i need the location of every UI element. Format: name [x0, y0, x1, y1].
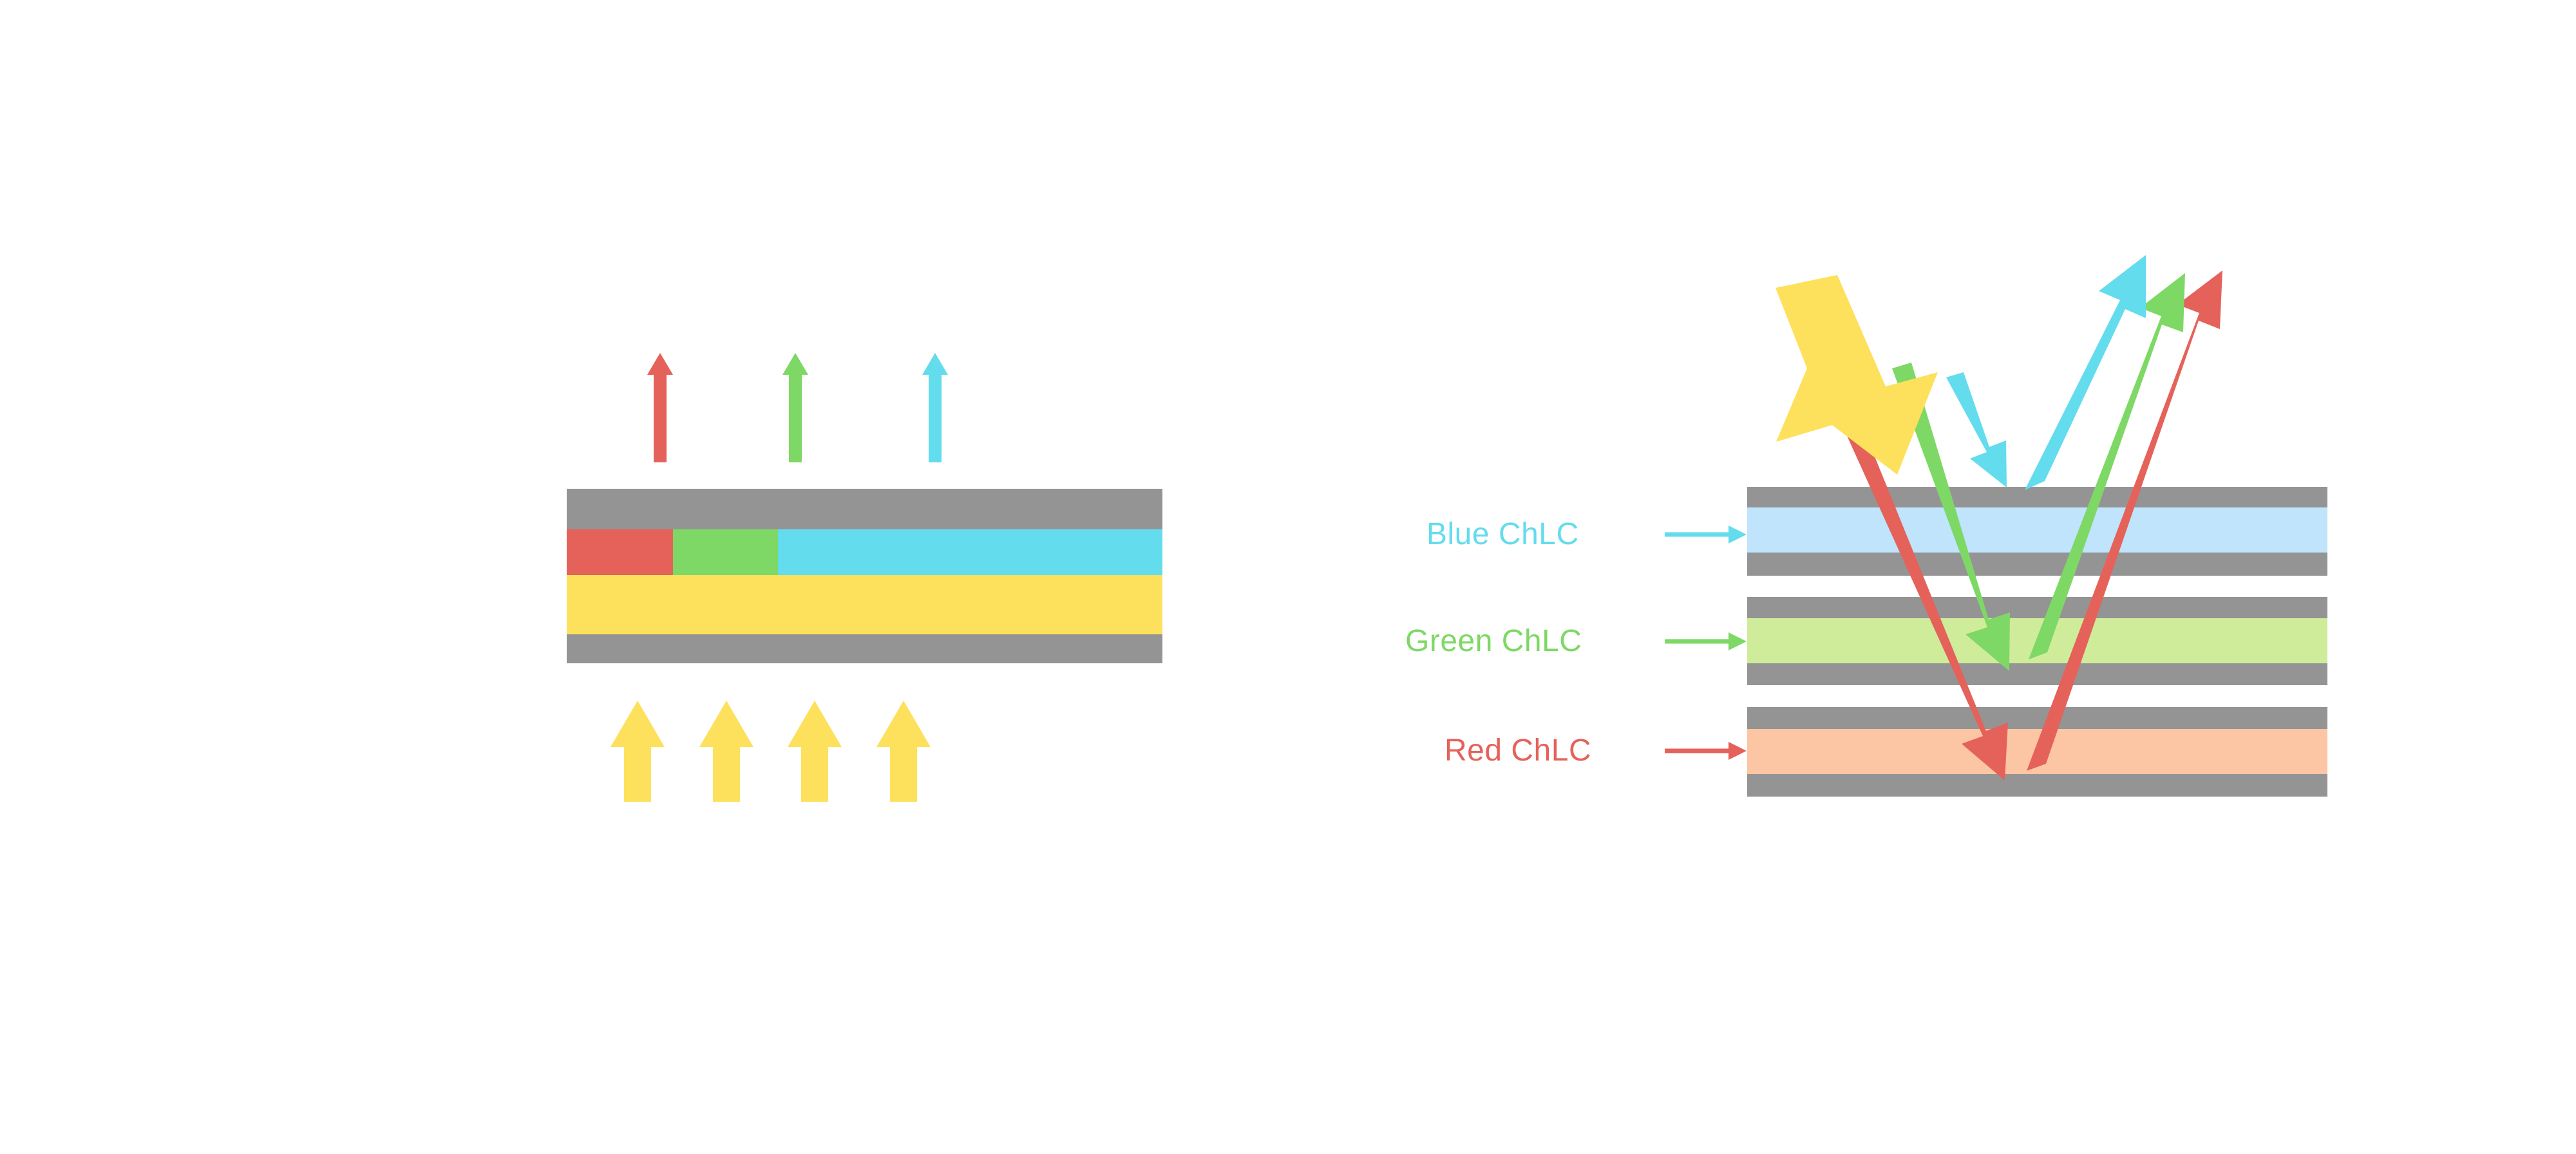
- label-pointer-arrows: [1665, 525, 1747, 760]
- blue-chlc-cell: [1747, 487, 2327, 576]
- green-cell-bottom-electrode: [1747, 663, 2327, 685]
- left-emissive-panel: [567, 353, 1162, 802]
- top-electrode: [567, 489, 1162, 529]
- backlight-arrow-4: [876, 701, 931, 802]
- blue-cell-top-electrode: [1747, 487, 2327, 507]
- backlight-arrow-1: [611, 701, 665, 802]
- blue-chlc-label: Blue ChLC: [1426, 519, 1579, 550]
- green-label-pointer-arrow: [1665, 632, 1747, 650]
- backlight-arrow-3: [788, 701, 842, 802]
- green-cell-top-electrode: [1747, 597, 2327, 618]
- incident-blue-ray: [1946, 372, 2007, 487]
- backlight-arrows: [611, 701, 931, 802]
- green-filter: [673, 529, 778, 575]
- blue-label-pointer-arrow: [1665, 525, 1747, 544]
- emitted-light-arrows: [647, 353, 948, 462]
- emitted-green-arrow: [782, 353, 808, 462]
- blue-filter: [778, 529, 1162, 575]
- backlight-arrow-2: [699, 701, 753, 802]
- red-label-pointer-arrow: [1665, 742, 1747, 760]
- emitted-red-arrow: [647, 353, 673, 462]
- diagram-svg: [0, 0, 2576, 1154]
- blue-cell-bottom-electrode: [1747, 553, 2327, 576]
- emitted-blue-arrow: [922, 353, 948, 462]
- right-chlc-panel: [1665, 255, 2327, 797]
- backlight-layer: [567, 575, 1162, 634]
- blue-chlc-layer: [1747, 507, 2327, 553]
- red-cell-bottom-electrode: [1747, 774, 2327, 797]
- red-filter: [567, 529, 673, 575]
- emissive-stack: [567, 489, 1162, 663]
- bottom-electrode: [567, 634, 1162, 663]
- red-chlc-label: Red ChLC: [1444, 735, 1591, 766]
- diagram-canvas: Blue ChLC Green ChLC Red ChLC: [0, 0, 2576, 1154]
- red-cell-top-electrode: [1747, 707, 2327, 729]
- green-chlc-label: Green ChLC: [1405, 626, 1582, 657]
- reflected-blue-ray: [2025, 255, 2146, 490]
